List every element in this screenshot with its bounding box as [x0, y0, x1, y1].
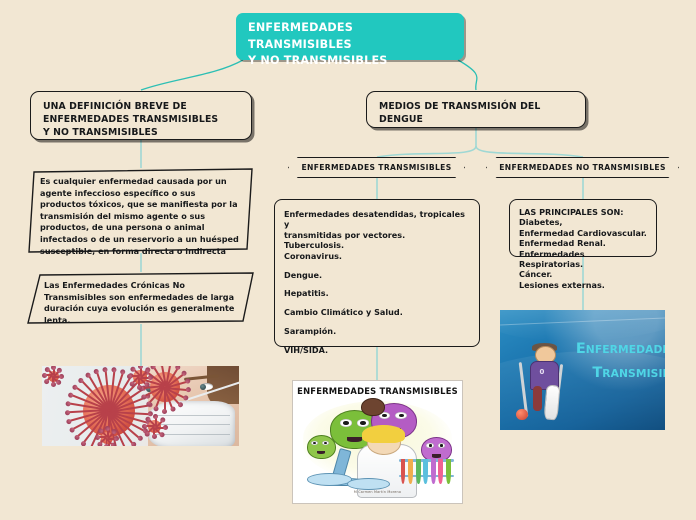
ncd-title-cap-e: E [576, 341, 586, 357]
test-tube-rack [399, 458, 453, 485]
pill-enfermedades-transmisibles[interactable]: ENFERMEDADES TRANSMISIBLES [288, 157, 465, 178]
definition-title-line1: UNA DEFINICIÓN BREVE DE [43, 100, 241, 113]
spacer [284, 337, 471, 346]
enfermedades-transmisibles-slide[interactable]: ENFERMEDADES TRANSMISIBLES [292, 380, 463, 504]
coronavirus-particle-small [48, 371, 59, 382]
list-item: Coronavirus. [284, 251, 471, 261]
injured-man-illustration: 0 [518, 346, 574, 420]
definition-title-line3: Y NO TRANSMISIBLES [43, 126, 241, 139]
list-item: Lesiones externas. [519, 280, 649, 290]
list-item: Enfermedades desatendidas, tropicales y [284, 209, 471, 230]
cronicas-text-box[interactable]: Las Enfermedades Crónicas No Transmisibl… [24, 272, 257, 324]
man-leg [533, 386, 542, 411]
node-definition-title[interactable]: UNA DEFINICIÓN BREVE DE ENFERMEDADES TRA… [30, 91, 252, 140]
spacer [284, 261, 471, 270]
list-item: Sarampión. [284, 326, 471, 336]
no-transmisibles-heading: LAS PRINCIPALES SON: [519, 207, 649, 217]
pill-enfermedades-no-transmisibles[interactable]: ENFERMEDADES NO TRANSMISIBLES [486, 157, 679, 178]
man-shirt-number: 0 [539, 368, 544, 376]
ncd-title-cap-t: T [592, 365, 602, 381]
ball [516, 409, 528, 421]
root-title-line2: Y NO TRANSMISIBLES [248, 53, 453, 70]
list-item: transmitidas por vectores. [284, 230, 471, 240]
coronavirus-mask-photo[interactable] [42, 366, 239, 446]
node-dengue-title[interactable]: MEDIOS DE TRANSMISIÓN DEL DENGUE [366, 91, 586, 128]
list-item: Diabetes, [519, 217, 649, 227]
no-transmisibles-list-box[interactable]: LAS PRINCIPALES SON: Diabetes, Enfermeda… [509, 199, 657, 257]
transmisibles-list-box[interactable]: Enfermedades desatendidas, tropicales y … [274, 199, 480, 347]
ncd-title-line2: TRANSMISIBLES [592, 362, 665, 381]
mindmap-canvas: ENFERMEDADES TRANSMISIBLES Y NO TRANSMIS… [0, 0, 696, 520]
root-title-line1: ENFERMEDADES TRANSMISIBLES [248, 20, 453, 53]
petri-dish [307, 473, 353, 486]
list-item: VIH/SIDA. [284, 345, 471, 355]
ncd-title-line1: ENFERMEDADES NO [576, 338, 665, 357]
coronavirus-particle-small [148, 420, 161, 433]
germ-brown [361, 398, 385, 416]
scientist-hair [362, 425, 404, 443]
list-item: Cáncer. [519, 269, 649, 279]
list-item: Tuberculosis. [284, 240, 471, 250]
coronavirus-particle-small [133, 370, 147, 384]
list-item: Hepatitis. [284, 288, 471, 298]
pill-no-transmisibles-label: ENFERMEDADES NO TRANSMISIBLES [487, 158, 678, 177]
coronavirus-particle-medium [150, 372, 180, 402]
definition-title-line2: ENFERMEDADES TRANSMISIBLES [43, 113, 241, 126]
enfermedades-no-transmisibles-slide[interactable]: ENFERMEDADES NO TRANSMISIBLES 0 [500, 310, 665, 430]
surgical-mask [148, 401, 235, 446]
definition-paragraph: Es cualquier enfermedad causada por un a… [24, 168, 257, 253]
petri-dish [347, 478, 390, 490]
slide-credit: M Carmen Martín Moreno [293, 490, 462, 494]
list-item: Cambio Climático y Salud. [284, 307, 471, 317]
ncd-title-line2-rest: RANSMISIBLES [602, 367, 665, 380]
spacer [284, 280, 471, 289]
definition-text-box[interactable]: Es cualquier enfermedad causada por un a… [24, 168, 257, 253]
person-pupil-right [200, 384, 206, 390]
slide-title: ENFERMEDADES TRANSMISIBLES [293, 386, 462, 396]
cronicas-paragraph: Las Enfermedades Crónicas No Transmisibl… [24, 272, 257, 324]
dengue-title-line2: DENGUE [379, 113, 575, 126]
list-item: Enfermedad Renal. [519, 238, 649, 248]
list-item: Dengue. [284, 270, 471, 280]
ncd-title-rest: NFERMEDADES [586, 343, 665, 356]
list-item: Enfermedades Respiratorias. [519, 249, 649, 270]
slide-swoosh-top [500, 310, 665, 341]
man-leg-cast [544, 384, 561, 420]
coronavirus-particle-small [101, 432, 113, 444]
spacer [284, 299, 471, 308]
pill-transmisibles-label: ENFERMEDADES TRANSMISIBLES [289, 158, 464, 177]
list-item: Enfermedad Cardiovascular. [519, 228, 649, 238]
root-node[interactable]: ENFERMEDADES TRANSMISIBLES Y NO TRANSMIS… [236, 13, 464, 60]
spacer [284, 318, 471, 327]
dengue-title-line1: MEDIOS DE TRANSMISIÓN DEL [379, 100, 575, 113]
